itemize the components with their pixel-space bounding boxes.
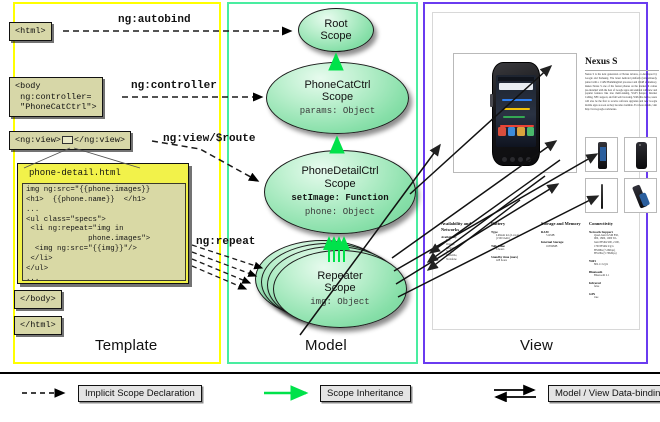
spec-column-1: Battery Type Lithium Ion (Li-Ion) (1500 … [491, 221, 537, 263]
spec-col-3-group-4-v0: true [594, 296, 635, 300]
spec-column-3: Connectivity Network Support Quad-band G… [589, 221, 635, 300]
scope-cat-title-line2: Scope [322, 91, 353, 103]
legend-label-scope-inheritance: Scope Inheritance [320, 385, 411, 402]
thumbnail-2[interactable] [585, 178, 618, 213]
label-ng-controller: ng:controller [131, 80, 217, 92]
hero-image-frame [453, 53, 577, 173]
scope-detail-property-2: phone: Object [305, 207, 375, 218]
legend-item-implicit-scope: Implicit Scope Declaration [20, 384, 202, 402]
note-filename: phone-detail.html [18, 164, 188, 180]
scope-detail-title-line2: Scope [324, 178, 355, 190]
scope-cat-title-line1: PhoneCatCtrl [304, 79, 370, 91]
sticky-note-phone-detail: phone-detail.html img ng:src="{{phone.im… [17, 163, 189, 284]
scope-repeater: Repeater Scope img: Object [273, 250, 407, 328]
view-detail-title: Nexus S [585, 57, 617, 67]
spec-col-3-group-0-v5: HSUPA (5.76Mbps) [594, 252, 635, 256]
spec-col-3-header: Connectivity [589, 221, 635, 227]
spec-col-3-group-3-v0: false [594, 285, 635, 289]
scope-rep-title-line1: Repeater [317, 270, 362, 282]
legend-icon-double-arrow [490, 384, 542, 402]
thumbnail-1[interactable] [624, 137, 657, 172]
code-tag-body-open: <body ng:controller= "PhoneCatCtrl"> [9, 77, 103, 117]
label-ng-autobind: ng:autobind [118, 14, 191, 26]
view-detail-description: Nexus S is the next generation of Nexus … [585, 73, 657, 131]
legend-item-scope-inheritance: Scope Inheritance [262, 384, 411, 402]
label-ng-view-route: ng:view/$route [163, 133, 255, 145]
detail-title-rule [585, 70, 659, 71]
spec-col-1-group-1-v0: 6 hours [496, 248, 537, 252]
label-ng-repeat: ng:repeat [196, 236, 255, 248]
scope-rep-title-line2: Scope [324, 282, 355, 294]
ngview-slot-icon [62, 136, 73, 144]
thumbnail-0[interactable] [585, 137, 618, 172]
legend-icon-dashed-arrow [20, 384, 72, 402]
panel-label-view: View [520, 337, 553, 354]
spec-column-2: Storage and Memory RAM 512MB Internal St… [541, 221, 587, 248]
scope-root: Root Scope [298, 8, 374, 52]
code-tag-body-close: </body> [14, 290, 62, 309]
spec-col-0-header: Availability and Networks [441, 221, 487, 232]
ngview-close-label: </ng:view> [74, 135, 125, 145]
code-tag-html-open: <html> [9, 22, 52, 41]
legend-label-implicit-scope: Implicit Scope Declaration [78, 385, 202, 402]
scope-detail-property-1: setImage: Function [291, 193, 388, 203]
spec-col-3-group-1-v0: 802.11 b/g/n [594, 263, 635, 267]
scope-cat-property: params: Object [300, 106, 376, 117]
spec-table: Availability and Networks Availability M… [441, 221, 635, 295]
spec-col-2-group-1-v0: 16384MB [546, 245, 587, 249]
ngview-open-label: <ng:view> [15, 135, 61, 145]
diagram-canvas: <html> <body ng:controller= "PhoneCatCtr… [0, 0, 660, 420]
rendered-view-page: Nexus S Nexus S is the next generation o… [432, 12, 640, 330]
code-tag-html-close: </html> [14, 316, 62, 335]
spec-col-2-header: Storage and Memory [541, 221, 587, 227]
legend: Implicit Scope Declaration Scope Inherit… [0, 372, 660, 422]
spec-col-0-group-0-v5: Vodafone [446, 258, 487, 262]
panel-label-model: Model [305, 337, 347, 354]
scope-phonecatctrl: PhoneCatCtrl Scope params: Object [266, 62, 409, 134]
legend-icon-green-arrow [262, 384, 314, 402]
legend-label-data-binding: Model / View Data-binding [548, 385, 660, 402]
spec-col-3-group-2-v0: Bluetooth 2.1 [594, 274, 635, 278]
spec-col-1-header: Battery [491, 221, 537, 227]
spec-col-1-group-0-v1: (1500 mAh) [496, 237, 537, 241]
scope-phonedetailctrl: PhoneDetailCtrl Scope setImage: Function… [264, 150, 416, 234]
spec-column-0: Availability and Networks Availability M… [441, 221, 487, 262]
note-code: img ng:src="{{phone.images}} <h1> {{phon… [22, 183, 186, 281]
scope-rep-property: img: Object [310, 297, 369, 308]
spec-col-1-group-2-v0: 428 hours [496, 259, 537, 263]
legend-item-data-binding: Model / View Data-binding [490, 384, 660, 402]
scope-root-title-line2: Scope [320, 30, 351, 42]
scope-detail-title-line1: PhoneDetailCtrl [301, 165, 378, 177]
thumbnail-3[interactable] [624, 178, 657, 213]
panel-label-template: Template [95, 337, 157, 354]
nexus-s-hero-image [492, 62, 540, 166]
code-tag-ngview: <ng:view></ng:view> [9, 131, 131, 150]
spec-col-2-group-0-v0: 512MB [546, 234, 587, 238]
scope-root-title-line1: Root [324, 18, 347, 30]
